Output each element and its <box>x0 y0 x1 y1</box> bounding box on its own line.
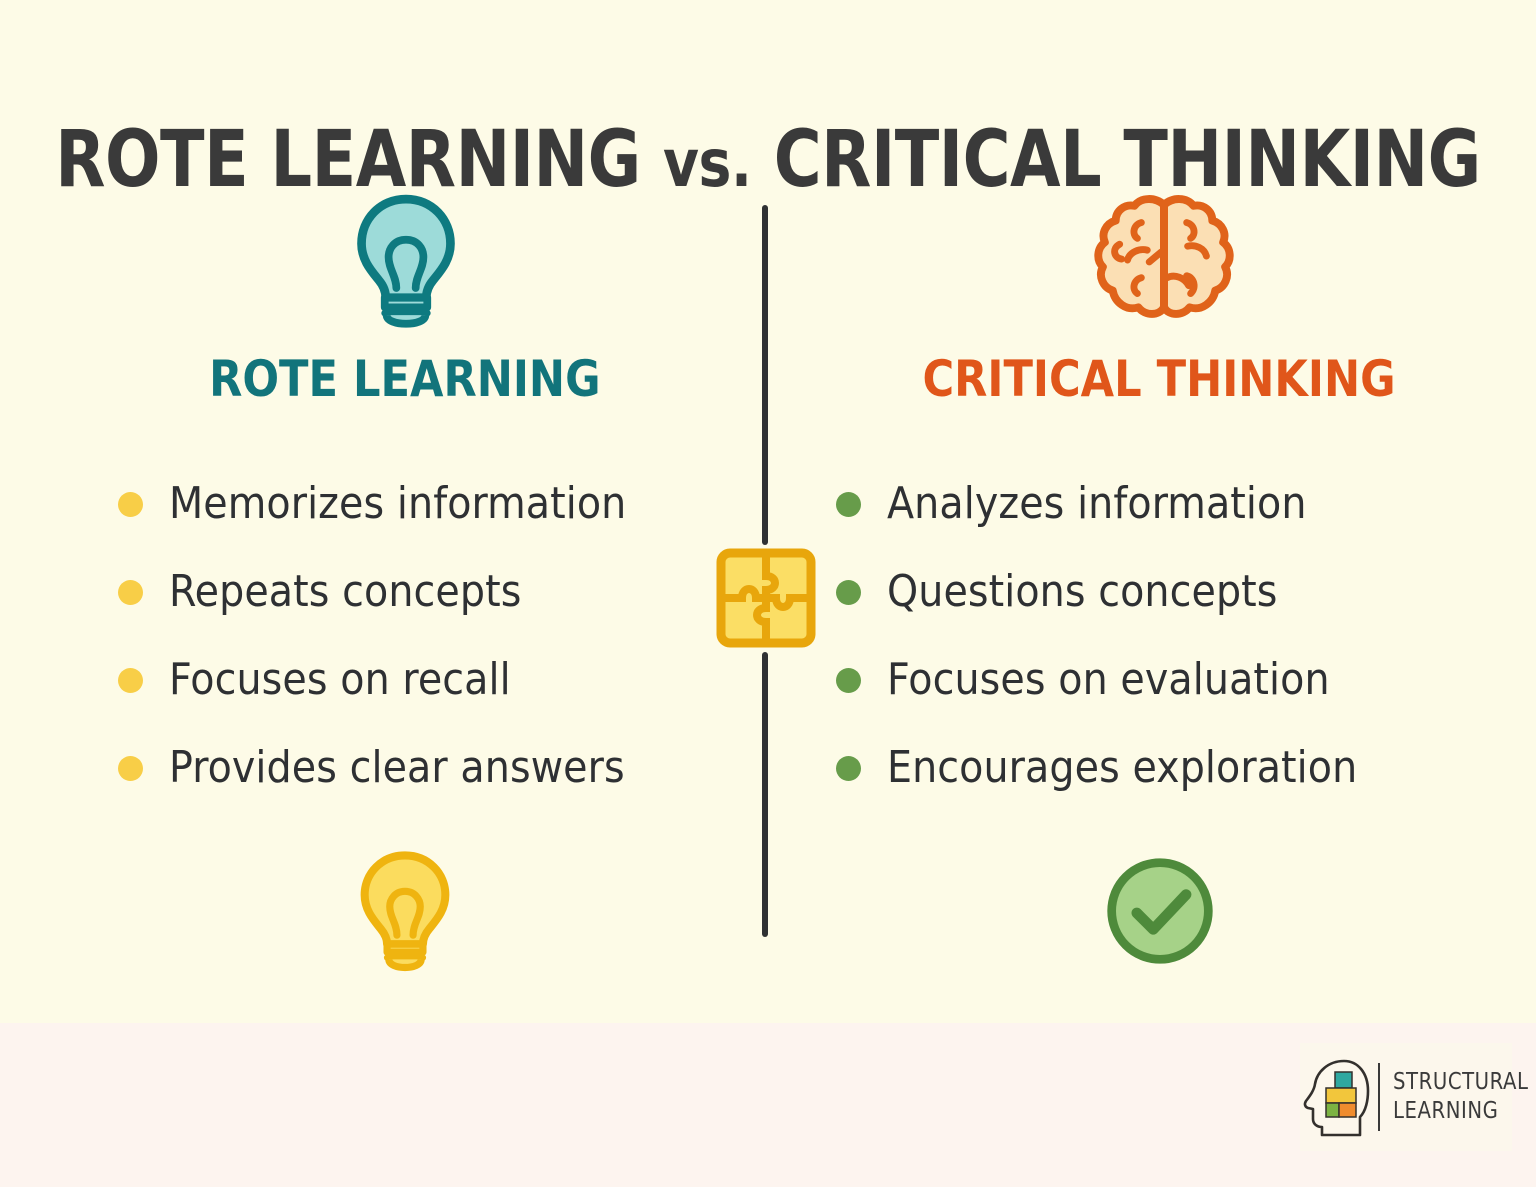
critical-thinking-column: CRITICAL THINKING Analyzes information Q… <box>790 186 1480 976</box>
list-item: Repeats concepts <box>118 548 740 636</box>
list-item: Focuses on evaluation <box>836 636 1480 724</box>
list-item-label: Provides clear answers <box>169 743 625 793</box>
bullet-dot-icon <box>118 580 143 605</box>
critical-thinking-bullet-list: Analyzes information Questions concepts … <box>790 460 1480 812</box>
bullet-dot-icon <box>836 668 861 693</box>
lightbulb-icon-yellow <box>60 846 740 976</box>
list-item-label: Repeats concepts <box>169 567 521 617</box>
logo-divider <box>1378 1063 1380 1131</box>
rote-learning-bullet-list: Memorizes information Repeats concepts F… <box>60 460 740 812</box>
bullet-dot-icon <box>836 492 861 517</box>
list-item-label: Analyzes information <box>887 479 1307 529</box>
bullet-dot-icon <box>118 492 143 517</box>
center-divider-bottom <box>762 652 768 937</box>
list-item-label: Questions concepts <box>887 567 1278 617</box>
list-item-label: Focuses on evaluation <box>887 655 1330 705</box>
logo-wordmark: STRUCTURAL LEARNING <box>1393 1068 1529 1126</box>
list-item: Memorizes information <box>118 460 740 548</box>
list-item-label: Encourages exploration <box>887 743 1357 793</box>
list-item: Provides clear answers <box>118 724 740 812</box>
center-divider-top <box>762 205 768 545</box>
rote-learning-column: ROTE LEARNING Memorizes information Repe… <box>60 186 740 976</box>
list-item: Encourages exploration <box>836 724 1480 812</box>
bullet-dot-icon <box>836 756 861 781</box>
lightbulb-icon-teal <box>60 186 740 334</box>
infographic-canvas: ROTE LEARNING vs. CRITICAL THINKING <box>0 0 1536 1187</box>
list-item-label: Memorizes information <box>169 479 626 529</box>
logo-line-1: STRUCTURAL <box>1393 1068 1529 1097</box>
critical-thinking-heading: CRITICAL THINKING <box>804 348 1466 410</box>
rote-learning-heading: ROTE LEARNING <box>74 348 727 410</box>
logo-line-2: LEARNING <box>1393 1097 1529 1126</box>
check-circle-icon <box>790 846 1480 976</box>
list-item: Questions concepts <box>836 548 1480 636</box>
list-item: Analyzes information <box>836 460 1480 548</box>
brain-icon <box>790 186 1480 334</box>
bullet-dot-icon <box>836 580 861 605</box>
structural-learning-logo: STRUCTURAL LEARNING <box>1300 1043 1512 1151</box>
bullet-dot-icon <box>118 668 143 693</box>
bullet-dot-icon <box>118 756 143 781</box>
head-profile-blocks-icon <box>1300 1053 1376 1141</box>
list-item: Focuses on recall <box>118 636 740 724</box>
list-item-label: Focuses on recall <box>169 655 511 705</box>
